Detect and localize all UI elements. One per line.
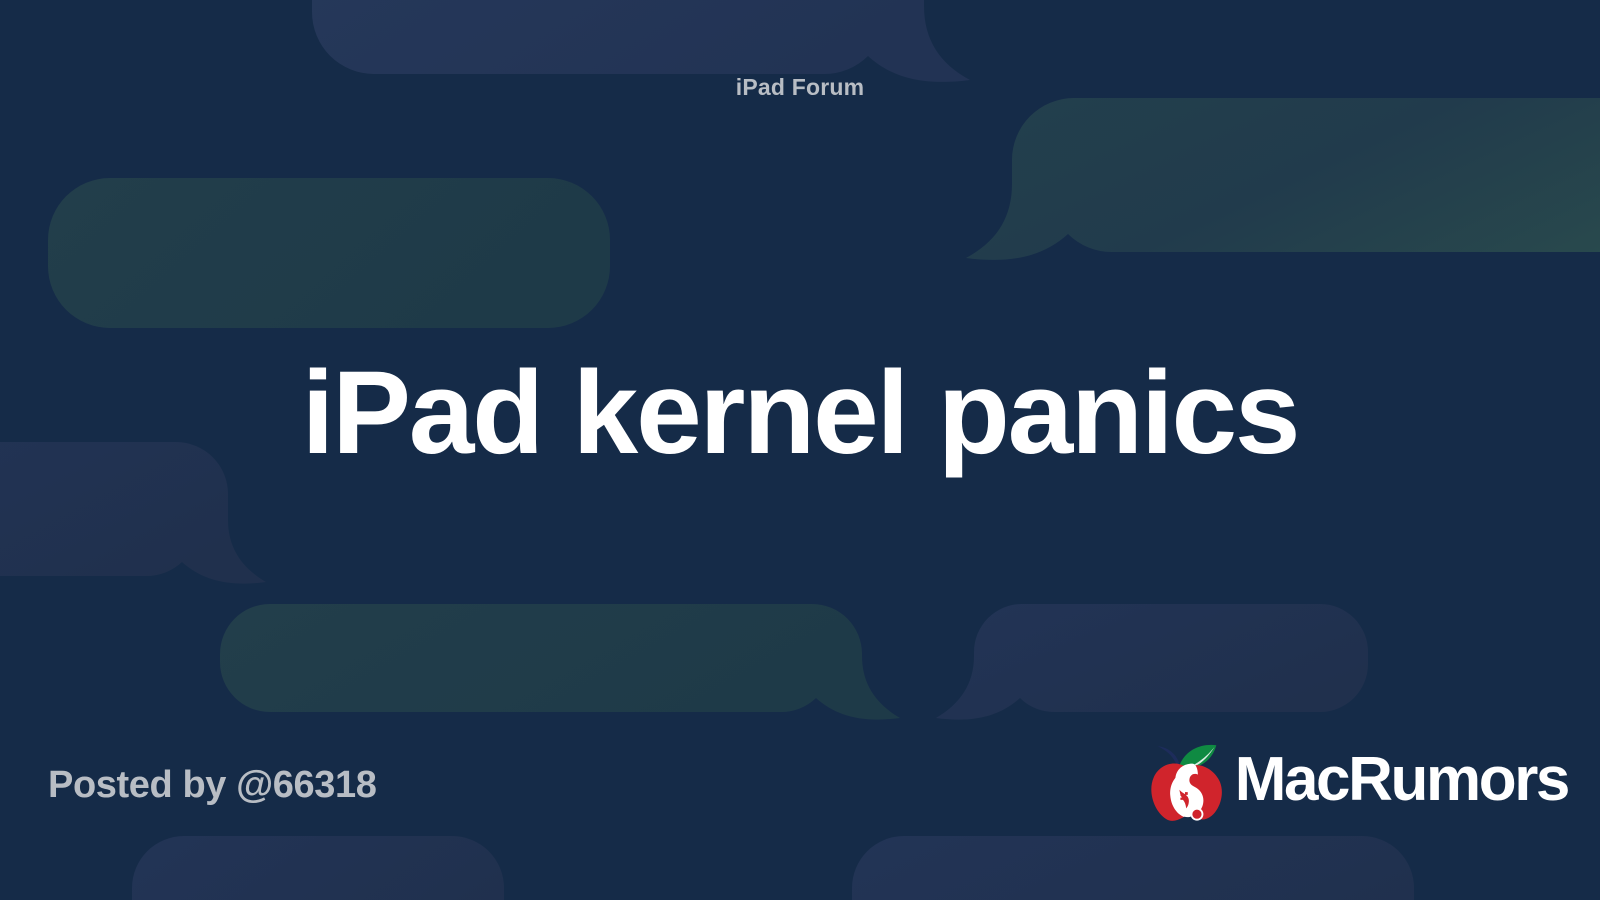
- brand-lockup: MacRumors: [1139, 736, 1568, 828]
- bubble-top-right: [966, 98, 1600, 260]
- bubble-left-upper: [48, 178, 610, 328]
- bubble-footer-left: [132, 836, 504, 900]
- brand-name-label: MacRumors: [1235, 749, 1568, 811]
- posted-by-label: Posted by @66318: [48, 764, 376, 807]
- page-title: iPad kernel panics: [0, 352, 1600, 475]
- share-card: iPad Forum iPad kernel panics Posted by …: [0, 0, 1600, 900]
- bubble-bottom-right: [936, 604, 1368, 720]
- forum-category-label: iPad Forum: [0, 74, 1600, 101]
- bubble-bottom-left: [220, 604, 900, 720]
- bubble-footer-right: [852, 836, 1414, 900]
- macrumors-apple-logo-icon: [1139, 736, 1231, 828]
- bubble-top-center: [312, 0, 970, 82]
